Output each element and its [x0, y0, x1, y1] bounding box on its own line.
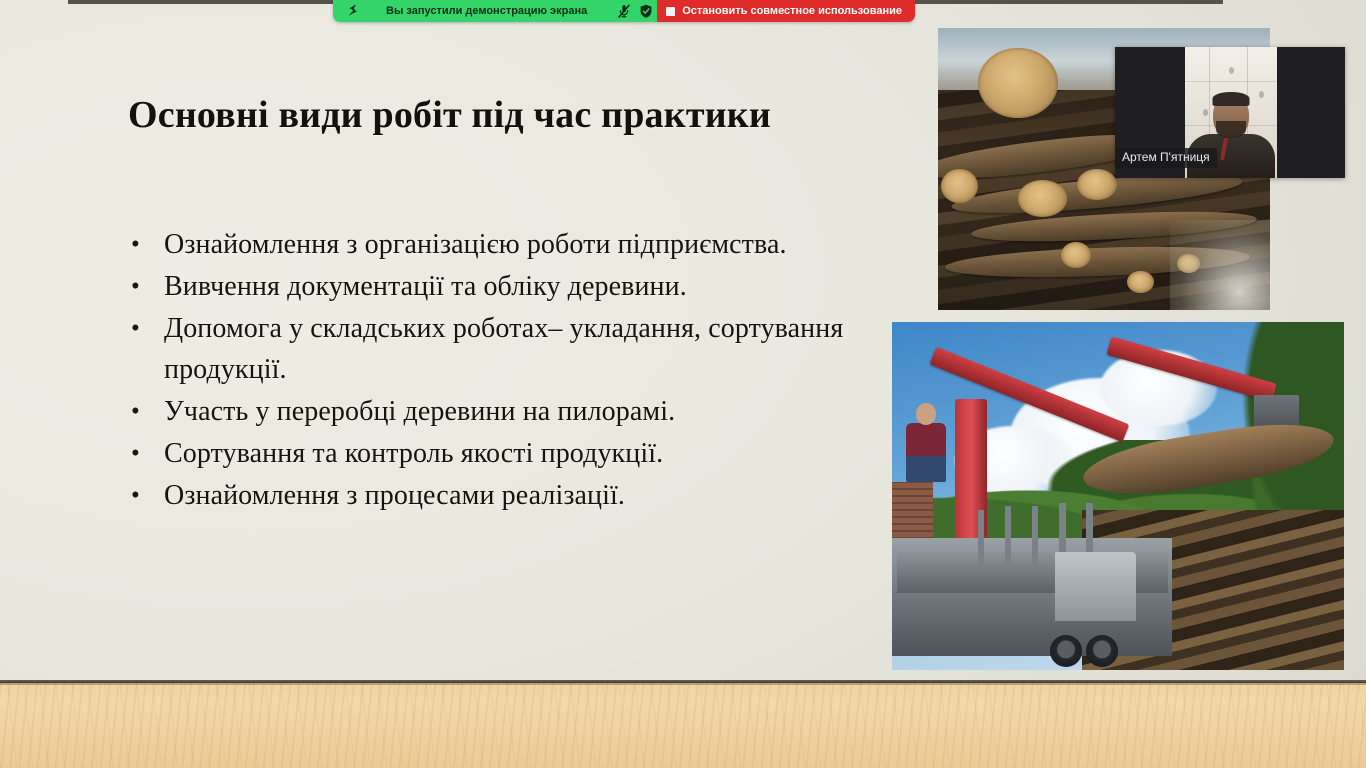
log-cut-end	[1077, 169, 1117, 200]
stop-sharing-label: Остановить совместное использование	[682, 0, 902, 22]
bullet-dot-icon: •	[128, 433, 164, 474]
list-item: • Сортування та контроль якості продукці…	[128, 433, 888, 474]
list-item: • Ознайомлення з процесами реалізації.	[128, 475, 888, 516]
crane-operator	[906, 423, 947, 482]
bed-stake	[1032, 506, 1038, 565]
share-status-label: Вы запустили демонстрацию экрана	[364, 0, 613, 22]
screen: Основні види робіт під час практики • Оз…	[0, 0, 1366, 768]
screen-share-icon	[342, 0, 364, 22]
truck-cab	[1055, 552, 1136, 622]
list-item-label: Ознайомлення з організацією роботи підпр…	[164, 224, 787, 265]
photo-bright-ground-region	[1170, 220, 1270, 310]
slide-title: Основні види робіт під час практики	[128, 92, 918, 138]
log-cut-end	[1127, 271, 1154, 294]
bed-stake	[1005, 506, 1011, 565]
shield-check-icon[interactable]	[635, 0, 657, 22]
bed-stake	[978, 510, 984, 566]
photo-crane-truck	[892, 322, 1344, 670]
bullet-dot-icon: •	[128, 266, 164, 307]
truck-wheel	[1086, 635, 1118, 666]
stop-sharing-button[interactable]: Остановить совместное использование	[657, 0, 915, 22]
participant-name-label: Артем П'ятниця	[1115, 148, 1217, 168]
log-cut-end	[1061, 242, 1091, 267]
screen-share-toolbar[interactable]: Вы запустили демонстрацию экрана Ост	[333, 0, 915, 22]
list-item: • Допомога у складських роботах– укладан…	[128, 308, 888, 390]
list-item-label: Вивчення документації та обліку деревини…	[164, 266, 687, 307]
bullet-dot-icon: •	[128, 475, 164, 516]
share-status-group: Вы запустили демонстрацию экрана	[333, 0, 657, 22]
bullet-dot-icon: •	[128, 391, 164, 432]
person-hair	[1213, 92, 1250, 106]
bullet-dot-icon: •	[128, 224, 164, 265]
list-item: • Участь у переробці деревини на пилорам…	[128, 391, 888, 432]
webcam-self-view[interactable]: Артем П'ятниця	[1115, 47, 1345, 178]
slide-bullet-list: • Ознайомлення з організацією роботи під…	[128, 224, 888, 517]
list-item: • Вивчення документації та обліку дереви…	[128, 266, 888, 307]
list-item: • Ознайомлення з організацією роботи під…	[128, 224, 888, 265]
list-item-label: Допомога у складських роботах– укладання…	[164, 308, 888, 390]
wooden-floor-background	[0, 683, 1366, 768]
log-cut-end	[1018, 180, 1068, 217]
list-item-label: Сортування та контроль якості продукції.	[164, 433, 663, 474]
stop-square-icon	[666, 7, 675, 16]
log-cut-end	[978, 48, 1058, 119]
mic-muted-icon[interactable]	[613, 0, 635, 22]
truck-wheel	[1050, 635, 1082, 666]
list-item-label: Участь у переробці деревини на пилорамі.	[164, 391, 675, 432]
person-beard	[1216, 121, 1246, 138]
log-cut-end	[941, 169, 978, 203]
bullet-dot-icon: •	[128, 308, 164, 349]
list-item-label: Ознайомлення з процесами реалізації.	[164, 475, 625, 516]
